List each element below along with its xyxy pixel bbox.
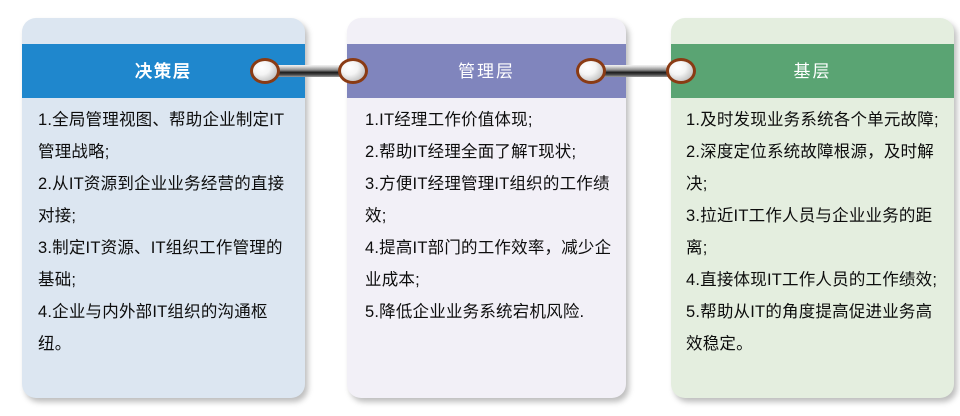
card-frontline-header: 基层 bbox=[671, 44, 954, 98]
card-frontline-title: 基层 bbox=[794, 63, 832, 80]
list-item: 4.提高IT部门的工作效率，减少企业成本; bbox=[365, 232, 614, 296]
card-decision-header: 决策层 bbox=[22, 44, 305, 98]
card-decision-title: 决策层 bbox=[135, 63, 192, 80]
diagram-canvas: 决策层 1.全局管理视图、帮助企业制定IT管理战略; 2.从IT资源到企业业务经… bbox=[0, 0, 960, 416]
card-management-title: 管理层 bbox=[458, 63, 515, 80]
list-item: 4.企业与内外部IT组织的沟通枢纽。 bbox=[38, 296, 291, 360]
list-item: 2.深度定位系统故障根源，及时解决; bbox=[686, 136, 946, 200]
list-item: 3.制定IT资源、IT组织工作管理的基础; bbox=[38, 232, 291, 296]
list-item: 5.降低企业业务系统宕机风险. bbox=[365, 296, 614, 328]
list-item: 5.帮助从IT的角度提高促进业务高效稳定。 bbox=[686, 296, 946, 360]
list-item: 3.拉近IT工作人员与企业业务的距离; bbox=[686, 200, 946, 264]
list-item: 1.IT经理工作价值体现; bbox=[365, 104, 614, 136]
card-decision-body: 1.全局管理视图、帮助企业制定IT管理战略; 2.从IT资源到企业业务经营的直接… bbox=[22, 98, 305, 398]
list-item: 1.全局管理视图、帮助企业制定IT管理战略; bbox=[38, 104, 291, 168]
card-management-header: 管理层 bbox=[347, 44, 626, 98]
list-item: 2.帮助IT经理全面了解T现状; bbox=[365, 136, 614, 168]
list-item: 2.从IT资源到企业业务经营的直接对接; bbox=[38, 168, 291, 232]
card-frontline[interactable]: 基层 1.及时发现业务系统各个单元故障; 2.深度定位系统故障根源，及时解决; … bbox=[671, 18, 954, 398]
card-management[interactable]: 管理层 1.IT经理工作价值体现; 2.帮助IT经理全面了解T现状; 3.方便I… bbox=[347, 18, 626, 398]
list-item: 1.及时发现业务系统各个单元故障; bbox=[686, 104, 946, 136]
card-decision[interactable]: 决策层 1.全局管理视图、帮助企业制定IT管理战略; 2.从IT资源到企业业务经… bbox=[22, 18, 305, 398]
list-item: 3.方便IT经理管理IT组织的工作绩效; bbox=[365, 168, 614, 232]
card-management-body: 1.IT经理工作价值体现; 2.帮助IT经理全面了解T现状; 3.方便IT经理管… bbox=[347, 98, 626, 398]
card-frontline-body: 1.及时发现业务系统各个单元故障; 2.深度定位系统故障根源，及时解决; 3.拉… bbox=[671, 98, 954, 398]
list-item: 4.直接体现IT工作人员的工作绩效; bbox=[686, 264, 946, 296]
